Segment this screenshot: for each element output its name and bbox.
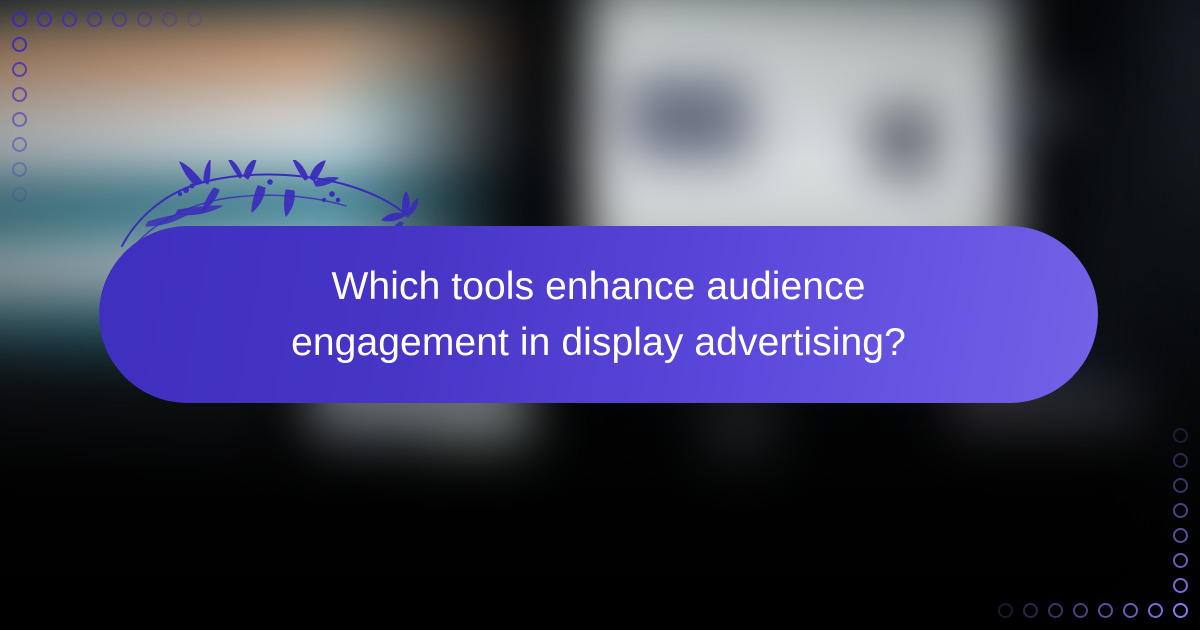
decorative-dot <box>12 37 27 52</box>
decorative-dot <box>1023 603 1038 618</box>
decorative-dot <box>1173 428 1188 443</box>
decorative-dot <box>12 187 27 202</box>
decorative-dot <box>1173 603 1188 618</box>
decorative-dot <box>12 162 27 177</box>
decorative-dot <box>187 12 202 27</box>
decorative-dot <box>1173 578 1188 593</box>
decorative-dot <box>112 12 127 27</box>
headline-text: Which tools enhance audience engagement … <box>251 259 946 371</box>
decorative-dot <box>1173 503 1188 518</box>
decorative-dot <box>1173 478 1188 493</box>
decorative-dot <box>1173 553 1188 568</box>
decorative-dot <box>12 12 27 27</box>
decorative-dot <box>12 112 27 127</box>
decorative-dot <box>87 12 102 27</box>
decorative-dot <box>12 62 27 77</box>
decorative-dot <box>1123 603 1138 618</box>
headline-pill: Which tools enhance audience engagement … <box>99 226 1098 403</box>
decorative-dot <box>1173 453 1188 468</box>
decorative-dot <box>12 87 27 102</box>
decorative-dot <box>998 603 1013 618</box>
decorative-dot <box>62 12 77 27</box>
decorative-dot <box>1098 603 1113 618</box>
decorative-dot <box>137 12 152 27</box>
banner-canvas: Which tools enhance audience engagement … <box>0 0 1200 630</box>
decorative-dot <box>1073 603 1088 618</box>
decorative-dot <box>162 12 177 27</box>
decorative-dot <box>37 12 52 27</box>
decorative-dot <box>1148 603 1163 618</box>
decorative-dot <box>12 137 27 152</box>
decorative-dot <box>1173 528 1188 543</box>
decorative-dot <box>1048 603 1063 618</box>
